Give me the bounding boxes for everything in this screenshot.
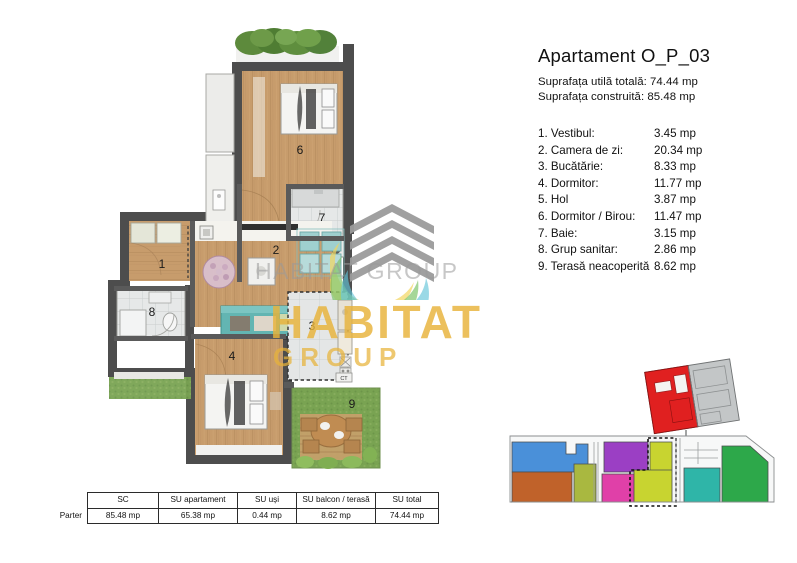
area-summary-table: SC SU apartament SU uși SU balcon / tera… bbox=[46, 492, 439, 524]
room-label: 4. Dormitor: bbox=[538, 176, 654, 193]
room-4-bedroom: 4 bbox=[195, 338, 283, 455]
header-su-total: SU total bbox=[376, 493, 439, 509]
room-label: 9. Terasă neacoperită bbox=[538, 259, 654, 276]
room-label: 1. Vestibul: bbox=[538, 126, 654, 143]
floor-plan: 6 5 7 2 bbox=[0, 0, 500, 492]
room-6-bedroom-office: 6 bbox=[242, 71, 343, 184]
room-number-9: 9 bbox=[349, 397, 356, 411]
room-list-item: 1. Vestibul: 3.45 mp bbox=[538, 126, 788, 143]
unit-olive bbox=[574, 464, 596, 502]
table-header-row: SC SU apartament SU uși SU balcon / tera… bbox=[46, 493, 439, 509]
apartment-info-panel: Apartament O_P_03 Suprafața utilă totală… bbox=[538, 45, 788, 275]
room-list-item: 3. Bucătărie: 8.33 mp bbox=[538, 159, 788, 176]
header-su-apartament: SU apartament bbox=[159, 493, 238, 509]
page-title: Apartament O_P_03 bbox=[538, 45, 788, 67]
room-area: 2.86 mp bbox=[654, 242, 696, 259]
value-sc: 85.48 mp bbox=[88, 508, 159, 524]
room-list-item: 8. Grup sanitar: 2.86 mp bbox=[538, 242, 788, 259]
empty-corner bbox=[46, 493, 88, 509]
header-su-balcon: SU balcon / terasă bbox=[297, 493, 376, 509]
round-rug bbox=[203, 256, 235, 288]
room-label: 8. Grup sanitar: bbox=[538, 242, 654, 259]
room-label: 2. Camera de zi: bbox=[538, 143, 654, 160]
building-key-plan bbox=[498, 358, 790, 508]
room-list-item: 7. Baie: 3.15 mp bbox=[538, 226, 788, 243]
garden-patch bbox=[109, 372, 191, 399]
value-su-apartament: 65.38 mp bbox=[159, 508, 238, 524]
room-label: 3. Bucătărie: bbox=[538, 159, 654, 176]
plan-label-ct: CT bbox=[340, 376, 348, 382]
key-units bbox=[512, 442, 768, 502]
header-sc: SC bbox=[88, 493, 159, 509]
room-label: 6. Dormitor / Birou: bbox=[538, 209, 654, 226]
header-su-usi: SU uși bbox=[238, 493, 297, 509]
room-label: 7. Baie: bbox=[538, 226, 654, 243]
room-list-item: 4. Dormitor: 11.77 mp bbox=[538, 176, 788, 193]
room-area: 3.15 mp bbox=[654, 226, 696, 243]
room-8-wc: 8 bbox=[117, 289, 185, 339]
room-3-kitchen: 3 CT bbox=[288, 292, 352, 382]
table-row: Parter 85.48 mp 65.38 mp 0.44 mp 8.62 mp… bbox=[46, 508, 439, 524]
room-area: 20.34 mp bbox=[654, 143, 702, 160]
storage-closet bbox=[206, 74, 234, 227]
value-su-usi: 0.44 mp bbox=[238, 508, 297, 524]
unit-teal bbox=[684, 468, 720, 502]
room-number-1: 1 bbox=[159, 257, 166, 271]
room-list: 1. Vestibul: 3.45 mp 2. Camera de zi: 20… bbox=[538, 126, 788, 275]
room-label: 5. Hol bbox=[538, 192, 654, 209]
room-1-vestibule: 1 bbox=[129, 221, 194, 281]
unit-orange bbox=[512, 472, 572, 502]
terrace-furniture bbox=[300, 414, 362, 460]
room-list-item: 2. Camera de zi: 20.34 mp bbox=[538, 143, 788, 160]
room-number-4: 4 bbox=[229, 349, 236, 363]
room-area: 11.47 mp bbox=[654, 209, 701, 226]
room-area: 8.33 mp bbox=[654, 159, 696, 176]
room-number-3: 3 bbox=[309, 319, 316, 333]
summary-usable-area: Suprafața utilă totală: 74.44 mp bbox=[538, 76, 788, 88]
room-number-6: 6 bbox=[297, 143, 304, 157]
value-su-balcon: 8.62 mp bbox=[297, 508, 376, 524]
row-label-parter: Parter bbox=[46, 508, 88, 524]
summary-built-area: Suprafața construită: 85.48 mp bbox=[538, 91, 788, 103]
room-list-item: 5. Hol 3.87 mp bbox=[538, 192, 788, 209]
room-area: 8.62 mp bbox=[654, 259, 696, 276]
key-block-upper bbox=[645, 359, 740, 434]
room-number-2: 2 bbox=[273, 243, 280, 257]
room-list-item: 9. Terasă neacoperită 8.62 mp bbox=[538, 259, 788, 276]
value-su-total: 74.44 mp bbox=[376, 508, 439, 524]
unit-purple bbox=[604, 442, 648, 472]
room-area: 11.77 mp bbox=[654, 176, 701, 193]
room-area: 3.87 mp bbox=[654, 192, 696, 209]
room-list-item: 6. Dormitor / Birou: 11.47 mp bbox=[538, 209, 788, 226]
room-9-terrace: 9 bbox=[292, 388, 380, 469]
room-number-8: 8 bbox=[149, 305, 156, 319]
room-area: 3.45 mp bbox=[654, 126, 696, 143]
